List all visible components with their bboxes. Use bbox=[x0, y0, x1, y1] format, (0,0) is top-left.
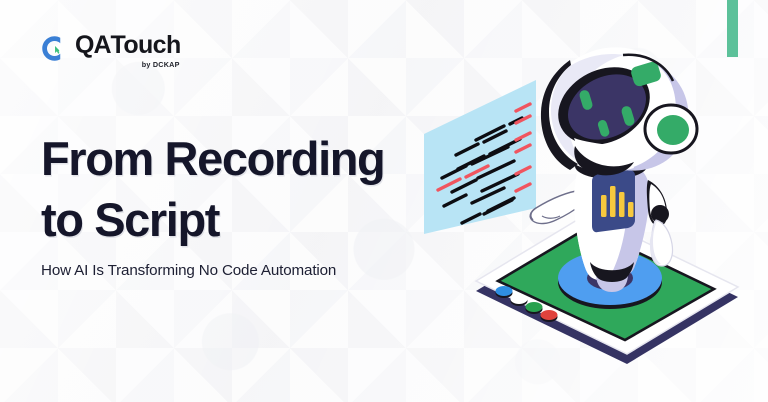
qatouch-logo[interactable]: QATouch by DCKAP bbox=[41, 33, 181, 69]
ai-robot-on-tablet-illustration bbox=[418, 28, 768, 378]
robot-chest-bar-chart-panel bbox=[592, 170, 635, 232]
robot-ear bbox=[645, 105, 697, 153]
logo-text: QATouch by DCKAP bbox=[75, 33, 181, 69]
blog-banner: QATouch by DCKAP From Recording to Scrip… bbox=[0, 0, 768, 402]
page-title-line-1: From Recording bbox=[41, 128, 441, 189]
logo-tagline: by DCKAP bbox=[142, 60, 180, 69]
hero-text-block: From Recording to Script How AI Is Trans… bbox=[41, 128, 441, 279]
tablet-button-blue bbox=[496, 286, 513, 298]
tablet-button-green bbox=[526, 302, 543, 314]
logo-wordmark: QATouch bbox=[75, 33, 181, 59]
logo-word-touch: Touch bbox=[111, 31, 181, 59]
qatouch-cursor-logo-icon bbox=[41, 35, 68, 62]
tablet-button-red bbox=[541, 310, 558, 322]
robot-head bbox=[528, 29, 697, 191]
page-subtitle: How AI Is Transforming No Code Automatio… bbox=[41, 262, 441, 279]
code-panel bbox=[424, 80, 536, 234]
logo-word-qa: QA bbox=[75, 31, 111, 59]
page-title: From Recording to Script bbox=[41, 128, 441, 250]
robot-resting-arm bbox=[647, 180, 673, 266]
page-title-line-2: to Script bbox=[41, 189, 441, 250]
tablet-button-white bbox=[511, 294, 528, 306]
